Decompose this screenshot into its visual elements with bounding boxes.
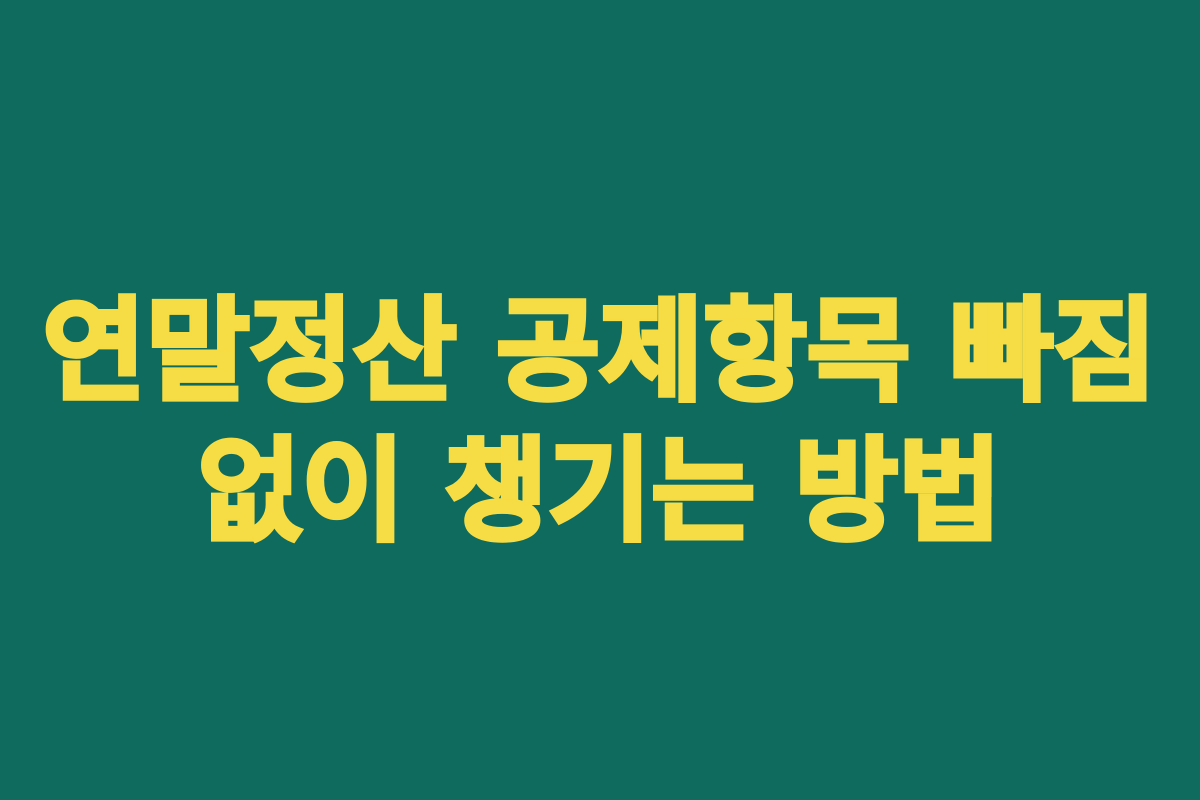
headline-block: 연말정산 공제항목 빠짐 없이 챙기는 방법	[0, 282, 1200, 562]
title-card: 연말정산 공제항목 빠짐 없이 챙기는 방법	[0, 0, 1200, 800]
headline-line-2: 없이 챙기는 방법	[0, 422, 1200, 562]
headline-line-1: 연말정산 공제항목 빠짐	[0, 282, 1200, 422]
